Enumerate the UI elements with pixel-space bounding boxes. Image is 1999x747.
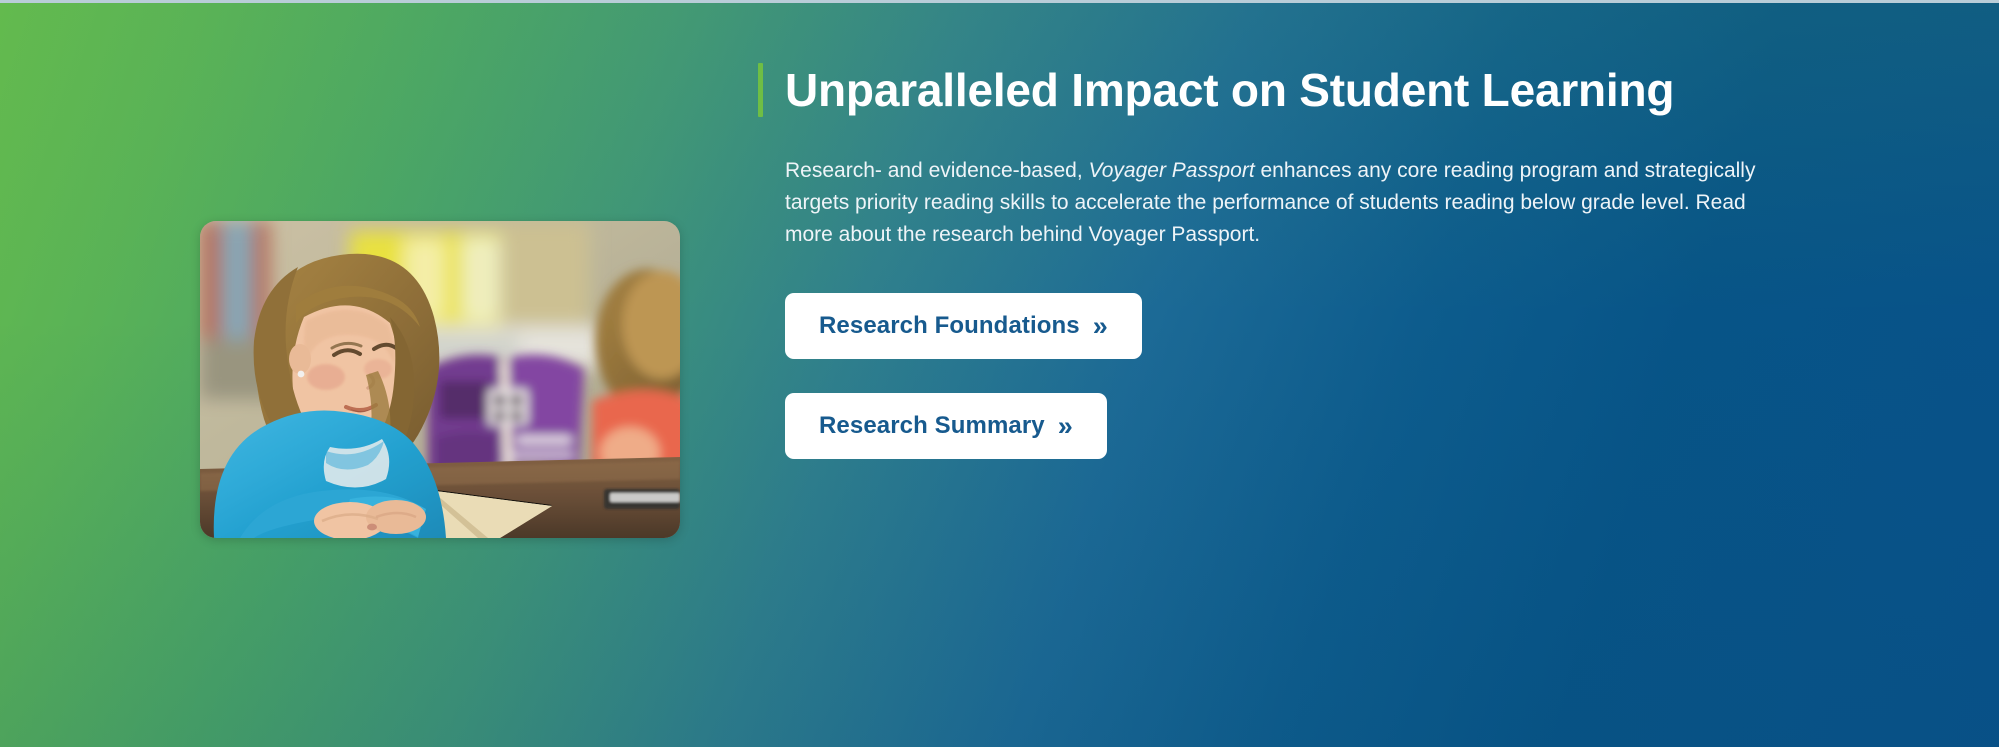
research-summary-button-wrap: Research Summary » xyxy=(785,393,1768,459)
accent-bar xyxy=(758,63,763,117)
research-summary-button[interactable]: Research Summary » xyxy=(785,393,1107,459)
hero-content: Unparalleled Impact on Student Learning … xyxy=(758,63,1768,459)
product-name: Voyager Passport xyxy=(1089,159,1255,182)
hero-banner: Unparalleled Impact on Student Learning … xyxy=(0,0,1999,747)
cta-button-group: Research Foundations » Research Summary … xyxy=(785,293,1768,459)
research-foundations-button[interactable]: Research Foundations » xyxy=(785,293,1142,359)
heading-row: Unparalleled Impact on Student Learning xyxy=(758,63,1768,117)
research-foundations-button-wrap: Research Foundations » xyxy=(785,293,1768,359)
student-reading-photo-graphic xyxy=(200,221,680,538)
double-chevron-right-icon: » xyxy=(1093,313,1108,340)
page-title: Unparalleled Impact on Student Learning xyxy=(785,63,1674,117)
double-chevron-right-icon: » xyxy=(1058,413,1073,440)
student-reading-photo xyxy=(200,221,680,538)
hero-description: Research- and evidence-based, Voyager Pa… xyxy=(785,155,1768,251)
description-lead: Research- and evidence-based, xyxy=(785,159,1089,182)
research-foundations-button-label: Research Foundations xyxy=(819,312,1080,340)
research-summary-button-label: Research Summary xyxy=(819,412,1045,440)
